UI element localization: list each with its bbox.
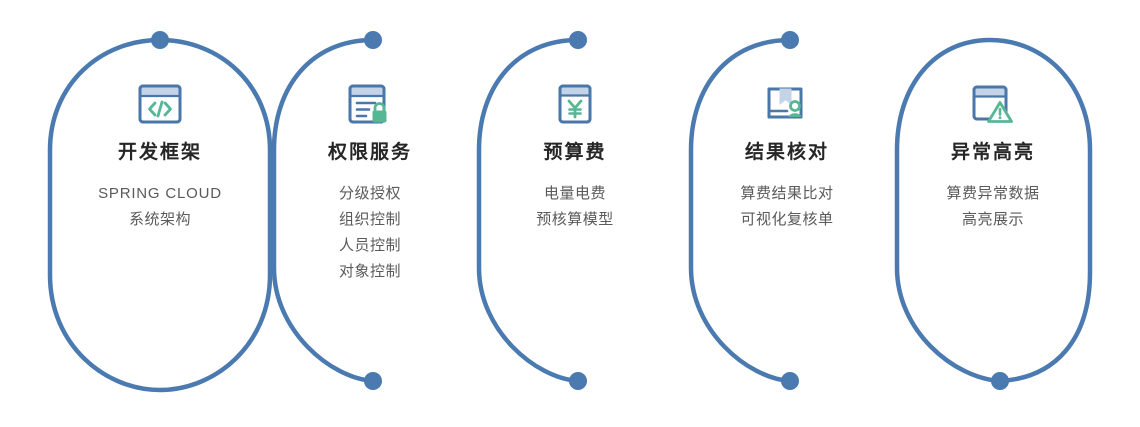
node-dot-stage-4-start	[781, 31, 799, 49]
window-warning-icon	[888, 78, 1098, 130]
stage-description: 算费结果比对 可视化复核单	[682, 181, 892, 233]
stage-title: 结果核对	[682, 142, 892, 165]
stage-description: SPRING CLOUD 系统架构	[55, 181, 265, 233]
stage-permission-service[interactable]: 权限服务 分级授权 组织控制 人员控制 对象控制	[265, 78, 475, 285]
stage-result-check[interactable]: 结果核对 算费结果比对 可视化复核单	[682, 78, 892, 233]
node-dot-stage-3-start	[569, 31, 587, 49]
stage-dev-framework[interactable]: 开发框架 SPRING CLOUD 系统架构	[55, 78, 265, 233]
stage-line: 预核算模型	[470, 207, 680, 233]
stage-line: 高亮展示	[888, 207, 1098, 233]
yen-window-icon	[470, 78, 680, 130]
stage-line: 对象控制	[265, 259, 475, 285]
stage-budget-fee[interactable]: 预算费 电量电费 预核算模型	[470, 78, 680, 233]
stage-title: 异常高亮	[888, 142, 1098, 165]
node-dot-stage-2-end	[364, 372, 382, 390]
stage-line: 算费结果比对	[682, 181, 892, 207]
stage-description: 电量电费 预核算模型	[470, 181, 680, 233]
node-dot-stage-2-start	[364, 31, 382, 49]
stage-line: 人员控制	[265, 233, 475, 259]
stage-line: 组织控制	[265, 207, 475, 233]
code-window-icon	[55, 78, 265, 130]
stage-title: 权限服务	[265, 142, 475, 165]
stage-line: SPRING CLOUD	[55, 181, 265, 207]
node-dot-stage-5-end	[991, 372, 1009, 390]
stage-line: 分级授权	[265, 181, 475, 207]
node-dot-stage-4-end	[781, 372, 799, 390]
diagram-canvas: 开发框架 SPRING CLOUD 系统架构 权限服务 分级授权 组织控制	[0, 0, 1140, 427]
stage-title: 预算费	[470, 142, 680, 165]
stage-line: 可视化复核单	[682, 207, 892, 233]
stage-anomaly-highlight[interactable]: 异常高亮 算费异常数据 高亮展示	[888, 78, 1098, 233]
node-dot-stage-3-end	[569, 372, 587, 390]
book-person-icon	[682, 78, 892, 130]
node-dot-stage-1-start	[151, 31, 169, 49]
stage-line: 电量电费	[470, 181, 680, 207]
stage-title: 开发框架	[55, 142, 265, 165]
stage-description: 算费异常数据 高亮展示	[888, 181, 1098, 233]
stage-description: 分级授权 组织控制 人员控制 对象控制	[265, 181, 475, 285]
document-lock-icon	[265, 78, 475, 130]
stage-line: 算费异常数据	[888, 181, 1098, 207]
stage-line: 系统架构	[55, 207, 265, 233]
